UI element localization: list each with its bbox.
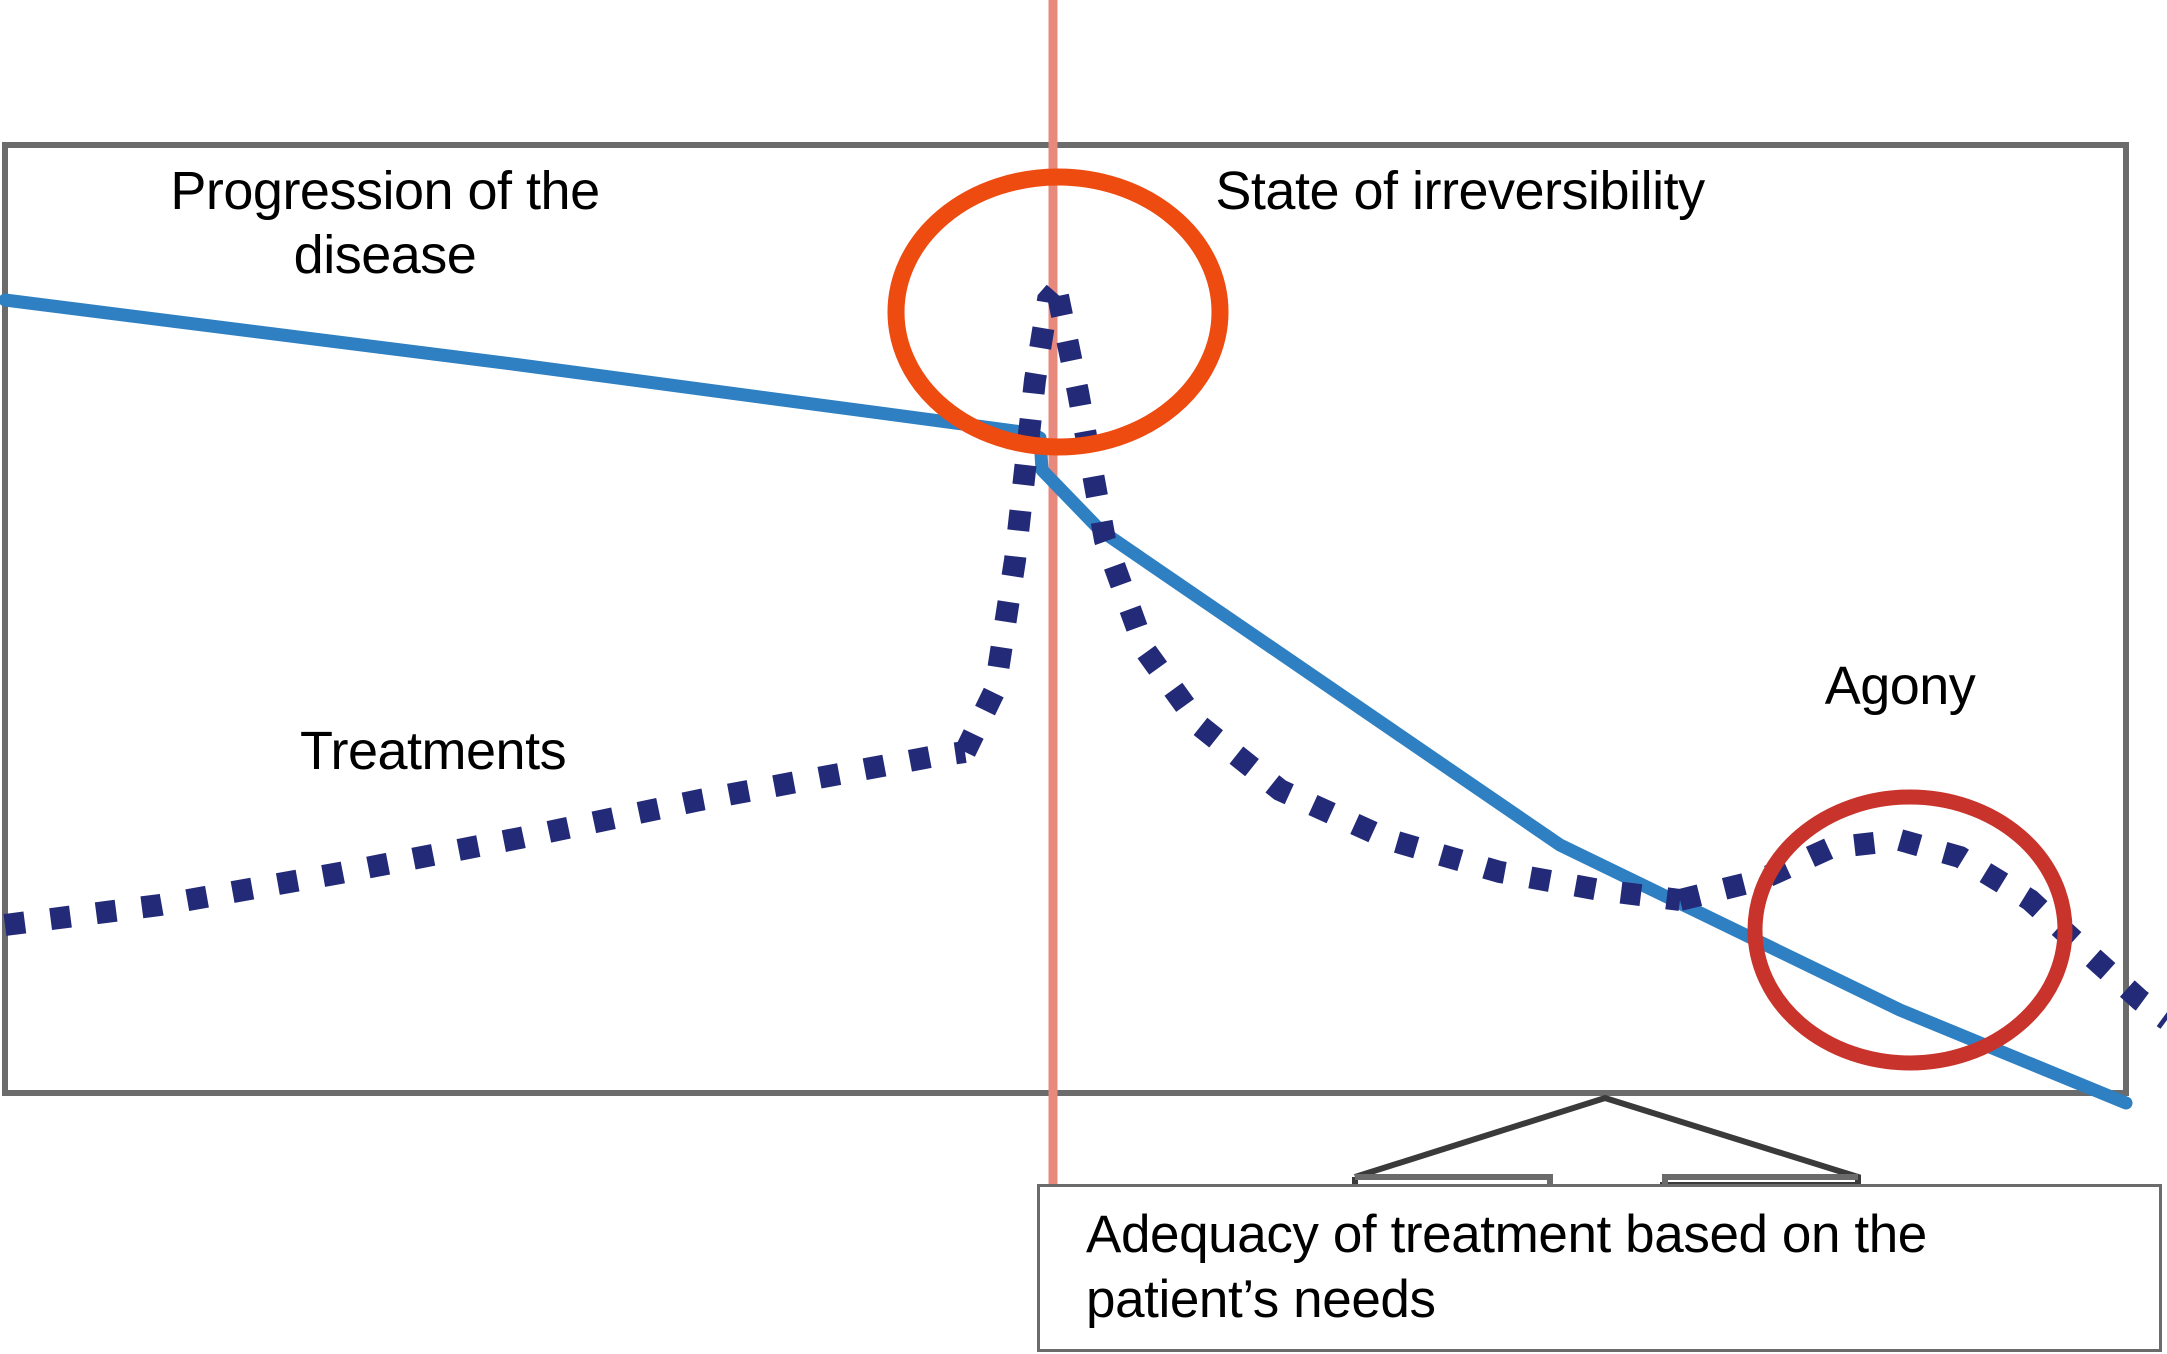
label-treatments: Treatments — [300, 720, 630, 784]
adequacy-callout-box: Adequacy of treatment based on the patie… — [1037, 1184, 2162, 1352]
label-state-of-irreversibility: State of irreversibility — [1130, 160, 1790, 224]
callout-pointer-arrow — [1355, 1098, 1858, 1185]
adequacy-callout-text: Adequacy of treatment based on the patie… — [1086, 1203, 2116, 1332]
label-agony: Agony — [1770, 655, 2030, 719]
figure-root: Progression of the disease State of irre… — [0, 0, 2167, 1354]
label-progression-of-the-disease: Progression of the disease — [150, 160, 620, 287]
